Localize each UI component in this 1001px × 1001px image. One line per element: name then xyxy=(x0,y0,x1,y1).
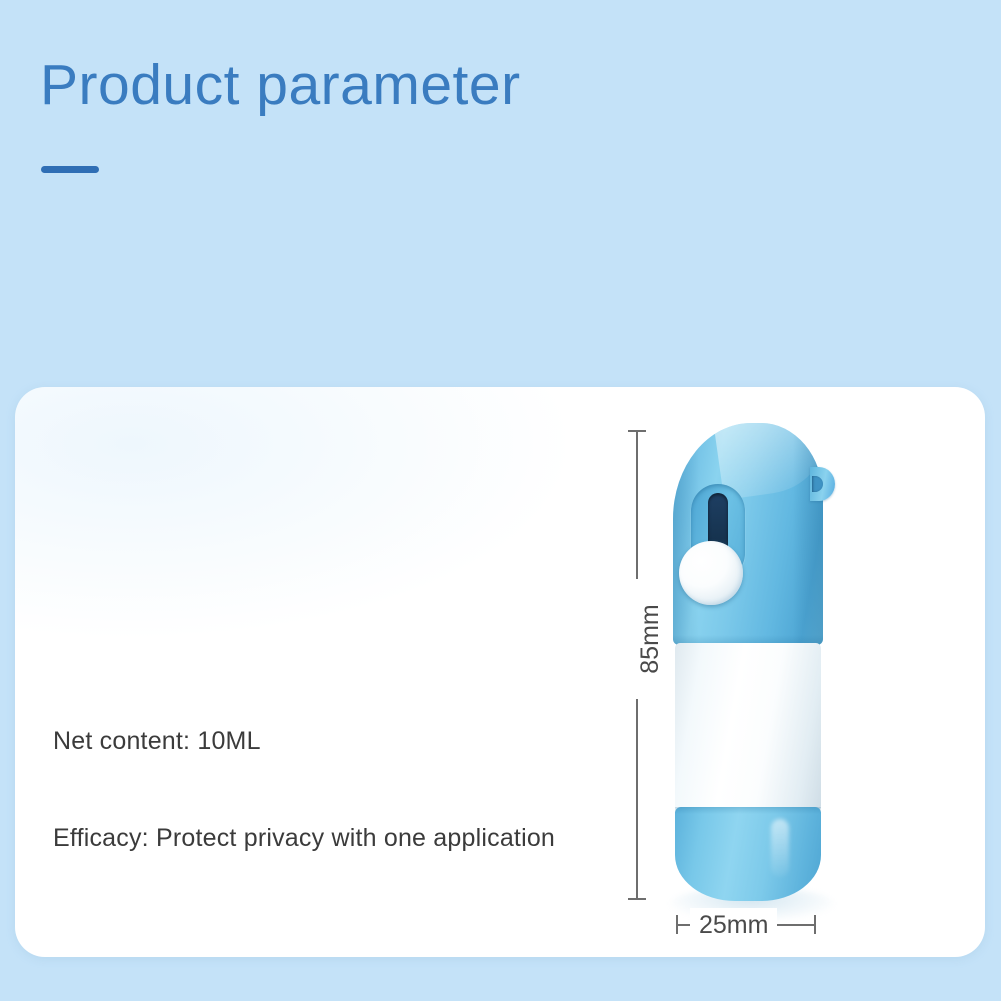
spec-net-content: Net content: 10ML xyxy=(53,727,261,756)
title-underline-accent xyxy=(41,166,99,173)
cap-hook-loop xyxy=(810,467,835,501)
cap-hook-eye xyxy=(812,476,823,492)
product-body-middle xyxy=(675,643,821,811)
dimension-width-tick-right xyxy=(814,915,816,934)
cap-right-shading xyxy=(793,423,823,645)
dimension-width-label: 25mm xyxy=(690,908,777,942)
base-gloss-highlight xyxy=(771,819,789,877)
dimension-height-tick-bottom xyxy=(628,898,646,900)
base-top-edge xyxy=(675,807,821,814)
product-base xyxy=(675,807,821,901)
spec-efficacy: Efficacy: Protect privacy with one appli… xyxy=(53,824,555,853)
dimension-width-tick-left xyxy=(676,915,678,934)
slider-knob xyxy=(679,541,743,605)
product-spray-bottle xyxy=(673,423,823,901)
dimension-height-label: 85mm xyxy=(633,579,667,699)
page-title: Product parameter xyxy=(40,52,521,118)
dimension-height-tick-top xyxy=(628,430,646,432)
